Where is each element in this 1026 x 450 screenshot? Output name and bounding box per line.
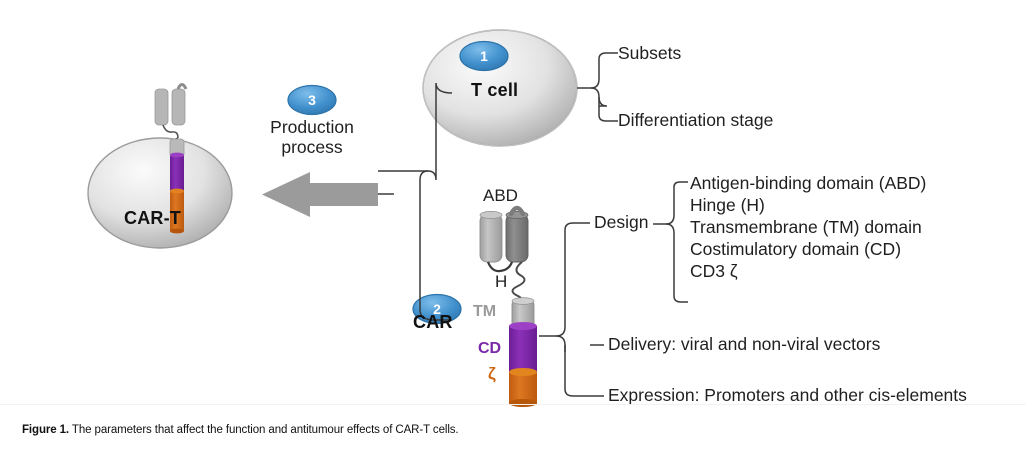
design-branch-brace (653, 182, 688, 302)
design-item-cd3-zeta: CD3 ζ (690, 261, 738, 282)
car-t-cell-shape (88, 138, 232, 248)
design-item-transmembrane: Transmembrane (TM) domain (690, 217, 922, 238)
production-line-2: process (259, 137, 365, 158)
car-t-label: CAR-T (124, 208, 181, 229)
t-cell-branch-brace (577, 53, 618, 121)
figure-container: T cell 1 CAR-T CAR 2 3 Production proces… (0, 0, 1026, 450)
cd-label: CD (478, 340, 501, 359)
zeta-label: ζ (488, 364, 496, 384)
caption-divider (0, 404, 1026, 405)
figure-caption-text: The parameters that affect the function … (72, 424, 459, 436)
badge-3-number: 3 (302, 93, 322, 107)
hinge-label: H (495, 272, 507, 292)
design-item-abd: Antigen-binding domain (ABD) (690, 173, 926, 194)
branch-item-design: Design (594, 212, 648, 233)
branch-connector-dashes (590, 345, 604, 396)
design-item-hinge: Hinge (H) (690, 195, 765, 216)
t-cell-label: T cell (471, 80, 518, 101)
design-item-costimulatory: Costimulatory domain (CD) (690, 239, 901, 260)
car-branch-brace (539, 223, 590, 396)
branch-item-expression: Expression: Promoters and other cis-elem… (608, 385, 967, 406)
tm-label: TM (473, 303, 496, 322)
branch-item-subsets: Subsets (618, 43, 681, 64)
branch-item-delivery: Delivery: viral and non-viral vectors (608, 334, 880, 355)
abd-label: ABD (483, 186, 518, 206)
production-line-1: Production (259, 117, 365, 138)
production-arrow (262, 172, 378, 217)
figure-caption: Figure 1. The parameters that affect the… (22, 424, 459, 436)
badge-1-number: 1 (474, 49, 494, 63)
badge-2-number: 2 (427, 302, 447, 316)
branch-item-differentiation-stage: Differentiation stage (618, 110, 773, 131)
figure-caption-prefix: Figure 1. (22, 424, 69, 436)
